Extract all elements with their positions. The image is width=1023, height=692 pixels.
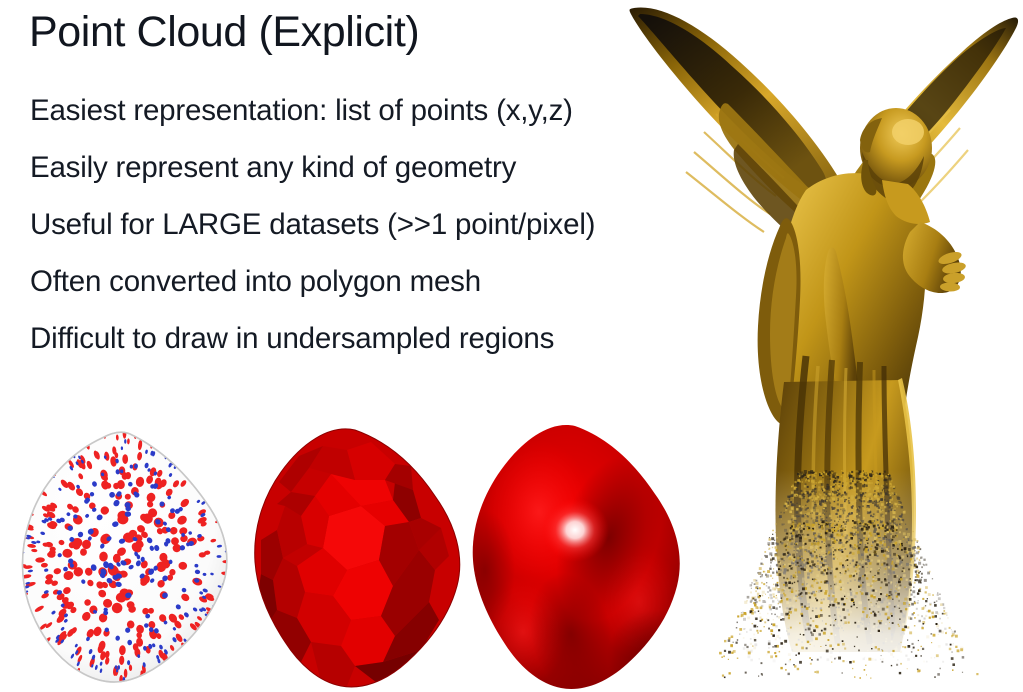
bullet-item-3: Useful for LARGE datasets (>>1 point/pix… <box>30 206 720 263</box>
head-highlight <box>892 119 924 145</box>
lucy-angel-statue-point-cloud <box>620 0 1023 692</box>
bullet-item-5: Difficult to draw in undersampled region… <box>30 320 720 377</box>
bullet-list: Easiest representation: list of points (… <box>30 92 720 377</box>
left-wing-inner-shadow <box>638 14 827 190</box>
page-title: Point Cloud (Explicit) <box>29 8 419 57</box>
undersampled-fade-overlay <box>740 470 970 692</box>
point-cloud-splat-blob <box>14 420 244 692</box>
specular-highlight <box>541 498 609 562</box>
blob-figure-row <box>0 420 700 692</box>
bullet-item-4: Often converted into polygon mesh <box>30 263 720 320</box>
bullet-item-2: Easily represent any kind of geometry <box>30 149 720 206</box>
slide-canvas: Point Cloud (Explicit) Easiest represent… <box>0 0 1023 692</box>
flat-shaded-polygon-mesh-blob <box>243 420 473 692</box>
bullet-item-1: Easiest representation: list of points (… <box>30 92 720 149</box>
